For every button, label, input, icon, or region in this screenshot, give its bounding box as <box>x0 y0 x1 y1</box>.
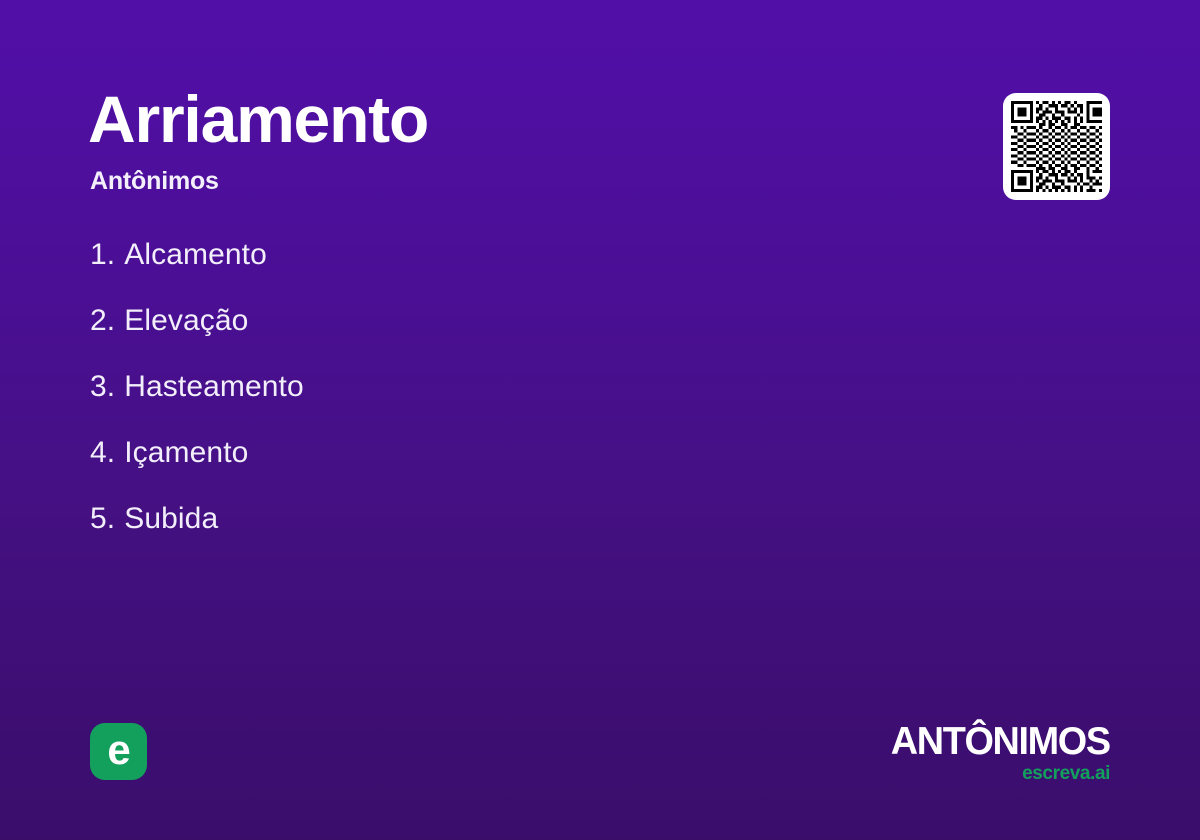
list-item-label: Subida <box>124 502 218 536</box>
list-item: 2. Elevação <box>90 304 790 370</box>
page-title: Arriamento <box>88 86 428 152</box>
list-item-label: Elevação <box>124 304 248 338</box>
list-item: 5. Subida <box>90 502 790 568</box>
list-item-label: Alcamento <box>124 238 267 272</box>
category-label: Antônimos <box>90 168 219 196</box>
list-item-index: 5. <box>90 502 115 536</box>
brand-logo-badge[interactable]: e <box>90 723 147 780</box>
list-item-index: 1. <box>90 238 115 272</box>
list-item-index: 2. <box>90 304 115 338</box>
list-item-label: Hasteamento <box>124 370 304 404</box>
footer-brand: ANTÔNIMOS escreva.ai <box>884 722 1110 783</box>
list-item: 3. Hasteamento <box>90 370 790 436</box>
footer-brand-name: ANTÔNIMOS <box>891 722 1110 761</box>
list-item-label: Içamento <box>124 436 248 470</box>
list-item: 4. Içamento <box>90 436 790 502</box>
brand-logo-letter: e <box>107 729 129 771</box>
antonyms-card: Arriamento Antônimos 1. Alcamento 2. Ele… <box>0 0 1200 840</box>
list-item-index: 4. <box>90 436 115 470</box>
list-item-index: 3. <box>90 370 115 404</box>
antonyms-list: 1. Alcamento 2. Elevação 3. Hasteamento … <box>90 238 790 568</box>
qr-code-icon[interactable] <box>1003 93 1110 200</box>
list-item: 1. Alcamento <box>90 238 790 304</box>
footer-brand-domain: escreva.ai <box>884 764 1110 783</box>
